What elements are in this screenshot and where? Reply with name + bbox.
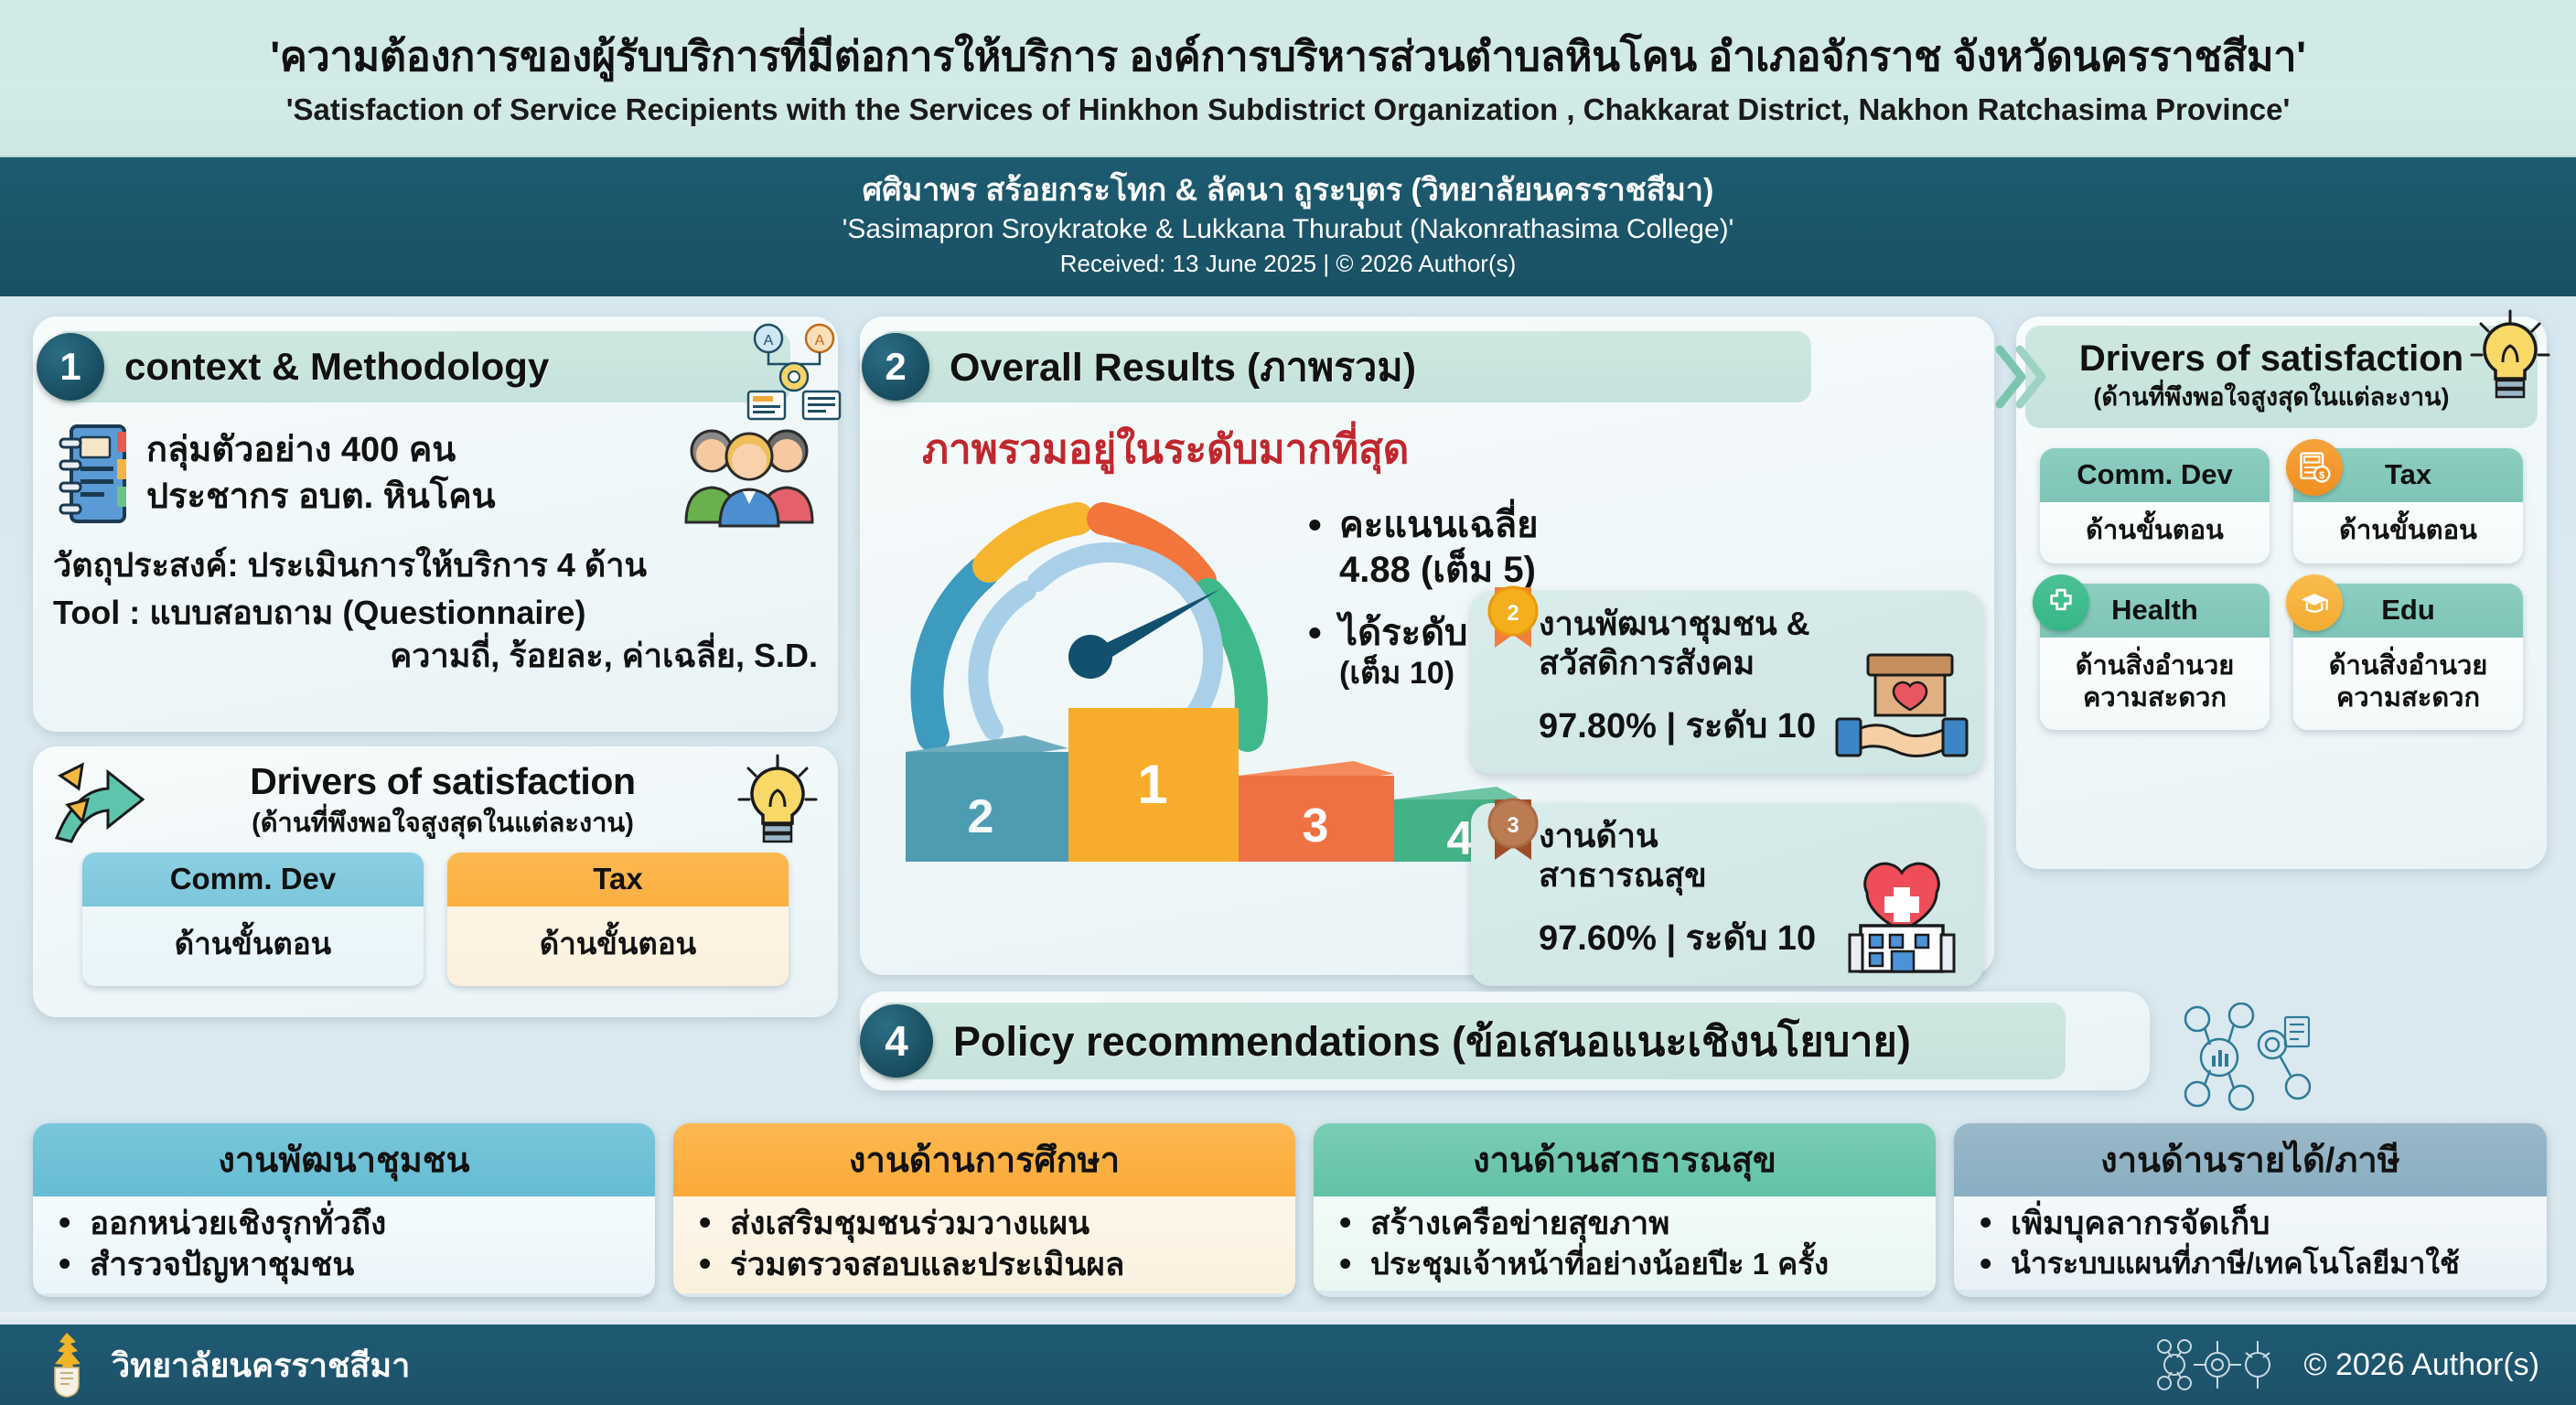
panel2-bullet-average: คะแนนเฉลี่ย 4.88 (เต็ม 5) xyxy=(1308,503,1619,593)
policy-card-community-development[interactable]: งานพัฒนาชุมชน ออกหน่วยเชิงรุกทั่วถึง สำร… xyxy=(33,1123,655,1297)
infographic-canvas: 1 context & Methodology A A xyxy=(0,296,2576,1312)
panel2-headline: ภาพรวมอยู่ในระดับมากที่สุด xyxy=(922,417,1976,481)
driver-right-card-edu[interactable]: Edu ด้านสิ่งอำนวย ความสะดวก xyxy=(2293,584,2523,731)
panel2-body: 2 1 3 4 คะแนนเฉลี่ย xyxy=(878,481,1976,975)
panel4-number-badge: 4 xyxy=(860,1004,933,1078)
growth-arrow-icon xyxy=(51,757,150,845)
drivers-right-cards: Comm. Dev ด้านขั้นตอน $ Tax ด้านขั้นตอน xyxy=(2016,428,2547,730)
drivers-left-title-block: Drivers of satisfaction (ด้านที่พึงพอใจส… xyxy=(163,760,723,843)
panel1-sample-row: กลุ่มตัวอย่าง 400 คน ประชากร อบต. หินโคน xyxy=(53,419,818,529)
medal-rank-3-icon: 3 xyxy=(1487,796,1539,876)
page-title-english: 'Satisfaction of Service Recipients with… xyxy=(286,92,2291,127)
driver-right-card-edu-body-line2: ความสะดวก xyxy=(2336,683,2480,713)
policy-card-4-head: งานด้านรายได้/ภาษี xyxy=(1954,1123,2547,1196)
svg-text:2: 2 xyxy=(1507,601,1519,626)
drivers-right-title-block: Drivers of satisfaction (ด้านที่พึงพอใจส… xyxy=(2048,338,2515,416)
driver-card-tax-body: ด้านขั้นตอน xyxy=(447,906,789,986)
svg-text:3: 3 xyxy=(1507,813,1519,838)
panel1-tool-label: Tool : xyxy=(53,594,140,631)
author-names-thai: ศศิมาพร สร้อยกระโทก & ลัคนา ถูระบุตร (วิ… xyxy=(863,172,1714,209)
policy-card-1-head: งานพัฒนาชุมชน xyxy=(33,1123,655,1196)
svg-text:$: $ xyxy=(2319,470,2324,481)
author-names-english: 'Sasimapron Sroykratoke & Lukkana Thurab… xyxy=(843,214,1734,245)
panel2-number-badge: 2 xyxy=(862,333,929,401)
driver-right-card-health-body-line2: ความสะดวก xyxy=(2083,683,2227,713)
policy-card-revenue-tax[interactable]: งานด้านรายได้/ภาษี เพิ่มบุคลากรจัดเก็บ น… xyxy=(1954,1123,2547,1297)
drivers-left-cards: Comm. Dev ด้านขั้นตอน Tax ด้านขั้นตอน xyxy=(51,853,820,986)
driver-right-card-edu-body: ด้านสิ่งอำนวย ความสะดวก xyxy=(2293,638,2523,731)
driver-card-tax-head: Tax xyxy=(447,853,789,906)
policy-card-1-item-2: สำรวจปัญหาชุมชน xyxy=(57,1245,639,1286)
panel1-sample-line2: ประชากร อบต. หินโคน xyxy=(146,474,496,520)
driver-right-card-tax[interactable]: $ Tax ด้านขั้นตอน xyxy=(2293,448,2523,563)
drivers-left-title-th: (ด้านที่พึงพอใจสูงสุดในแต่ละงาน) xyxy=(163,801,723,843)
panel2-title: Overall Results (ภาพรวม) xyxy=(950,336,1416,398)
svg-text:3: 3 xyxy=(1303,799,1329,853)
panel4-title: Policy recommendations (ข้อเสนอแนะเชิงนโ… xyxy=(953,1008,1911,1074)
policy-card-3-items: สร้างเครือข่ายสุขภาพ ประชุมเจ้าหน้าที่อย… xyxy=(1314,1196,1936,1291)
ranking-podium-icon: 2 1 3 4 xyxy=(878,708,1519,891)
policy-card-4-item-2: นำระบบแผนที่ภาษี/เทคโนโลยีมาใช้ xyxy=(1978,1245,2530,1282)
driver-right-card-comm-dev[interactable]: Comm. Dev ด้านขั้นตอน xyxy=(2040,448,2270,563)
svg-text:1: 1 xyxy=(1137,754,1167,815)
footer-right: © 2026 Author(s) xyxy=(2152,1335,2539,1394)
footer-bar: วิทยาลัยนครราชสีมา © 2026 A xyxy=(0,1325,2576,1405)
tax-doc-icon: $ xyxy=(2286,439,2343,496)
panel-drivers-left: Drivers of satisfaction (ด้านที่พึงพอใจส… xyxy=(33,746,838,1017)
panel1-title: context & Methodology xyxy=(124,345,549,389)
policy-card-education[interactable]: งานด้านการศึกษา ส่งเสริมชุมชนร่วมวางแผน … xyxy=(673,1123,1295,1297)
lightbulb-icon xyxy=(2468,309,2552,404)
hospital-heart-icon xyxy=(1833,860,1970,979)
chevron-right-icon xyxy=(1994,344,2047,410)
panel4-header: 4 Policy recommendations (ข้อเสนอแนะเชิง… xyxy=(876,1003,2066,1079)
footer-brand: วิทยาลัยนครราชสีมา xyxy=(38,1331,410,1399)
driver-right-card-tax-body: ด้านขั้นตอน xyxy=(2293,502,2523,563)
policy-card-2-head: งานด้านการศึกษา xyxy=(673,1123,1295,1196)
title-band: 'ความต้องการของผู้รับบริการที่มีต่อการให… xyxy=(0,0,2576,157)
drivers-right-header: Drivers of satisfaction (ด้านที่พึงพอใจส… xyxy=(2025,326,2538,428)
handshake-box-icon xyxy=(1833,648,1970,767)
policy-card-3-head: งานด้านสาธารณสุข xyxy=(1314,1123,1936,1196)
driver-right-card-health-body: ด้านสิ่งอำนวย ความสะดวก xyxy=(2040,638,2270,731)
result-card-community-development[interactable]: 2 งานพัฒนาชุมชน & สวัสดิการสังคม 97.80% … xyxy=(1471,591,1983,774)
panel-drivers-right: Drivers of satisfaction (ด้านที่พึงพอใจส… xyxy=(2016,316,2547,869)
panel1-sample-text: กลุ่มตัวอย่าง 400 คน ประชากร อบต. หินโคน xyxy=(146,427,496,520)
driver-card-tax[interactable]: Tax ด้านขั้นตอน xyxy=(447,853,789,986)
notebook-icon xyxy=(53,419,137,529)
driver-right-card-comm-dev-head: Comm. Dev xyxy=(2040,448,2270,502)
result-card-public-health[interactable]: 3 งานด้าน สาธารณสุข 97.60% | ระดับ 10 xyxy=(1471,803,1983,986)
panel2-bullet-average-label: คะแนนเฉลี่ย xyxy=(1339,505,1539,545)
panel-context-methodology: 1 context & Methodology A A xyxy=(33,316,838,732)
panel2-header: 2 Overall Results (ภาพรวม) xyxy=(878,331,1811,402)
panel1-stats: ความถี่, ร้อยละ, ค่าเฉลี่ย, S.D. xyxy=(53,634,818,678)
driver-right-card-edu-body-line1: ด้านสิ่งอำนวย xyxy=(2329,651,2488,681)
driver-card-comm-dev-head: Comm. Dev xyxy=(82,853,424,906)
drivers-left-header: Drivers of satisfaction (ด้านที่พึงพอใจส… xyxy=(51,756,820,847)
driver-card-comm-dev[interactable]: Comm. Dev ด้านขั้นตอน xyxy=(82,853,424,986)
panel1-number-badge: 1 xyxy=(37,333,104,401)
policy-card-public-health[interactable]: งานด้านสาธารณสุข สร้างเครือข่ายสุขภาพ ปร… xyxy=(1314,1123,1936,1297)
medal-rank-2-icon: 2 xyxy=(1487,584,1539,664)
footer-copyright: © 2026 Author(s) xyxy=(2303,1347,2539,1383)
driver-card-comm-dev-body: ด้านขั้นตอน xyxy=(82,906,424,986)
drivers-right-title-en: Drivers of satisfaction xyxy=(2079,338,2463,380)
graduation-cap-icon xyxy=(2286,574,2343,631)
svg-text:2: 2 xyxy=(968,790,994,843)
result-card-1-title-line1: งานพัฒนาชุมชน & xyxy=(1539,604,1965,643)
panel1-sample-line1: กลุ่มตัวอย่าง 400 คน xyxy=(146,427,496,474)
policy-card-3-item-2: ประชุมเจ้าหน้าที่อย่างน้อยปีะ 1 ครั้ง xyxy=(1337,1245,1919,1283)
driver-right-card-health[interactable]: Health ด้านสิ่งอำนวย ความสะดวก xyxy=(2040,584,2270,731)
policy-card-2-item-1: ส่งเสริมชุมชนร่วมวางแผน xyxy=(697,1204,1279,1245)
drivers-right-title-th: (ด้านที่พึงพอใจสูงสุดในแต่ละงาน) xyxy=(2079,377,2463,416)
lightbulb-icon xyxy=(735,754,820,849)
policy-card-1-item-1: ออกหน่วยเชิงรุกทั่วถึง xyxy=(57,1204,639,1245)
policy-card-4-item-1: เพิ่มบุคลากรจัดเก็บ xyxy=(1978,1204,2530,1245)
policy-card-4-items: เพิ่มบุคลากรจัดเก็บ นำระบบแผนที่ภาษี/เทค… xyxy=(1954,1196,2547,1290)
panel1-tool-value: แบบสอบถาม (Questionnaire) xyxy=(149,594,585,631)
panel-policy-recommendations: 4 Policy recommendations (ข้อเสนอแนะเชิง… xyxy=(860,992,2150,1090)
policy-card-2-item-2: ร่วมตรวจสอบและประเมินผล xyxy=(697,1245,1279,1286)
panel1-header: 1 context & Methodology A A xyxy=(53,331,790,402)
svg-text:A: A xyxy=(764,333,774,349)
panel1-objective: วัตถุประสงค์: ประเมินการให้บริการ 4 ด้าน xyxy=(53,543,818,587)
author-bar: ศศิมาพร สร้อยกระโทก & ลัคนา ถูระบุตร (วิ… xyxy=(0,157,2576,296)
page-title-thai: 'ความต้องการของผู้รับบริการที่มีต่อการให… xyxy=(270,32,2305,80)
medical-cross-icon xyxy=(2033,574,2089,631)
result-card-2-title-line1: งานด้าน xyxy=(1539,816,1965,855)
driver-right-card-comm-dev-body: ด้านขั้นตอน xyxy=(2040,502,2270,563)
policy-card-2-items: ส่งเสริมชุมชนร่วมวางแผน ร่วมตรวจสอบและปร… xyxy=(673,1196,1295,1293)
footer-org-name: วิทยาลัยนครราชสีมา xyxy=(112,1339,410,1391)
panel1-methodology: วัตถุประสงค์: ประเมินการให้บริการ 4 ด้าน… xyxy=(53,543,818,678)
network-analytics-icon xyxy=(2177,1003,2333,1112)
driver-right-card-health-body-line1: ด้านสิ่งอำนวย xyxy=(2076,651,2235,681)
svg-text:4: 4 xyxy=(1447,812,1474,865)
drivers-left-title-en: Drivers of satisfaction xyxy=(163,760,723,803)
network-documents-icon: A A xyxy=(745,320,843,421)
college-crest-icon xyxy=(38,1331,95,1399)
policy-card-1-items: ออกหน่วยเชิงรุกทั่วถึง สำรวจปัญหาชุมชน xyxy=(33,1196,655,1293)
people-group-icon xyxy=(681,420,818,528)
svg-text:A: A xyxy=(815,333,825,349)
received-copyright-line: Received: 13 June 2025 | © 2026 Author(s… xyxy=(1060,250,1517,278)
policy-card-3-item-1: สร้างเครือข่ายสุขภาพ xyxy=(1337,1204,1919,1245)
panel-overall-results: 2 Overall Results (ภาพรวม) ภาพรวมอยู่ในร… xyxy=(860,316,1994,975)
network-analytics-icon xyxy=(2152,1335,2289,1394)
